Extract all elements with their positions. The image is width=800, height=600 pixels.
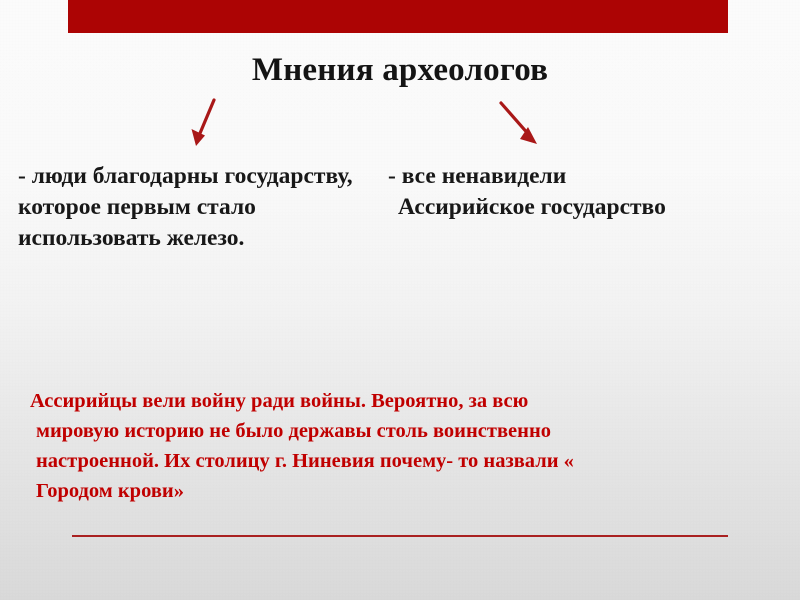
page-title: Мнения археологов [0,52,800,89]
slide-canvas: Мнения археологов - люди благодарны госу… [0,0,800,600]
top-red-banner [68,0,728,33]
paper-texture-overlay [0,0,800,600]
opinion-right-text: - все ненавидели Ассирийское государство [388,161,788,223]
opinion-left-text: - люди благодарны государству, которое п… [18,161,358,254]
arrow-down-right-icon [492,96,552,156]
assyria-note-line-4: Городом крови» [30,476,730,506]
opinion-left-line-4: использовать железо. [18,225,244,251]
assyria-note-line-1: Ассирийцы вели войну ради войны. Вероятн… [30,386,730,416]
opinion-right-line-1: - все ненавидели [388,163,566,189]
arrow-down-left-icon [185,96,245,156]
assyria-note-line-3: настроенной. Их столицу г. Ниневия почем… [30,446,730,476]
assyria-note-text: Ассирийцы вели войну ради войны. Вероятн… [30,386,730,506]
opinion-left-line-3: первым стало [107,194,256,220]
opinion-left-line-1: - люди благодарны [18,163,219,189]
opinion-right-line-2: Ассирийское государство [388,192,788,223]
bottom-red-rule [72,535,728,537]
assyria-note-line-2: мировую историю не было державы столь во… [30,416,730,446]
